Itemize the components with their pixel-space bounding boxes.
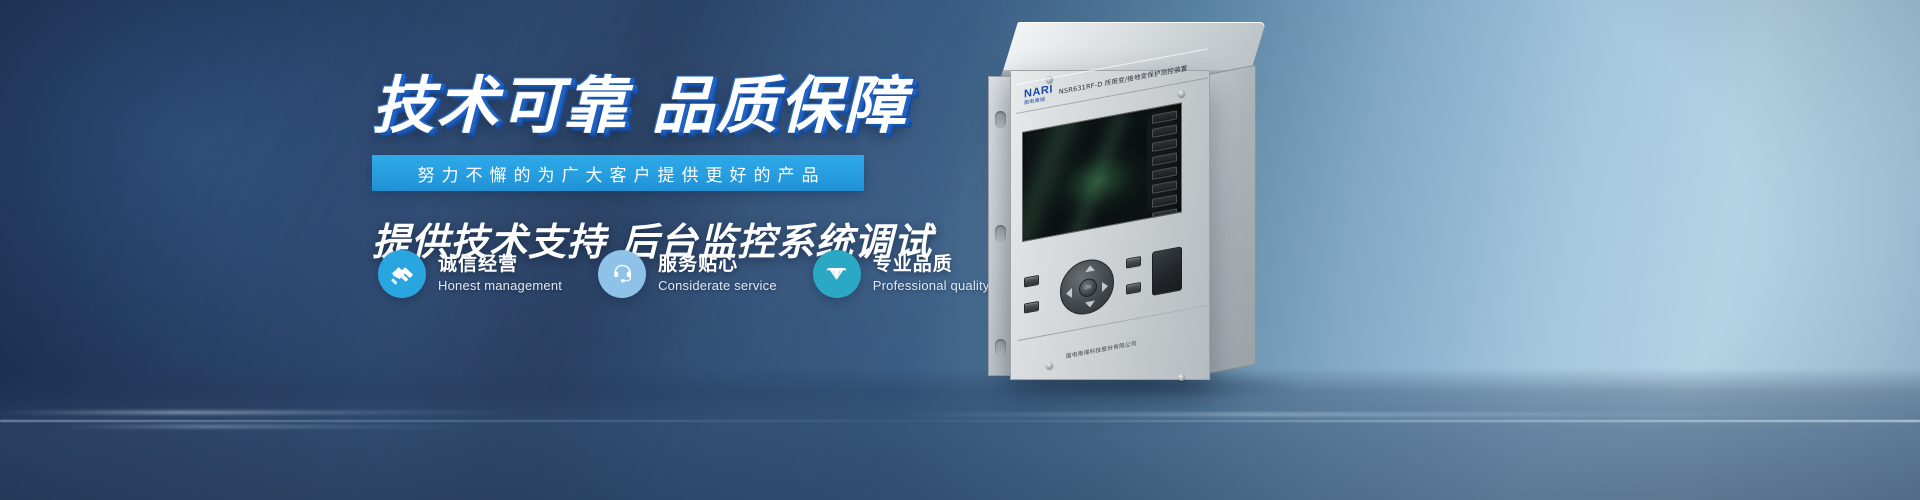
horizon-line	[0, 420, 1920, 422]
led-indicator	[1152, 180, 1177, 194]
nari-logo: NARI 南电南瑞	[1024, 84, 1053, 106]
function-button[interactable]	[1024, 275, 1039, 288]
feature-title: 服务贴心	[658, 254, 777, 276]
dpad-control[interactable]: OK	[1060, 255, 1114, 319]
function-button[interactable]	[1126, 256, 1141, 269]
copy-block: 技术可靠 品质保障 努力不懈的为广大客户提供更好的产品 提供技术支持 后台监控系…	[372, 74, 912, 266]
device-mounting-ear	[988, 76, 1012, 376]
mounting-hole	[995, 225, 1006, 242]
arrow-right-icon[interactable]	[1102, 281, 1108, 292]
card-slot	[1152, 246, 1182, 296]
led-indicator	[1152, 166, 1177, 180]
floor-band	[0, 368, 1920, 500]
light-streak	[60, 425, 480, 428]
product-device: NARI 南电南瑞 NSR631RF-D 所用变/接地变保护测控装置	[980, 22, 1270, 382]
light-streak	[900, 413, 1920, 416]
led-indicator-strip	[1152, 110, 1177, 222]
handshake-icon	[378, 250, 426, 298]
light-streak	[0, 411, 520, 414]
mounting-hole	[995, 339, 1006, 356]
arrow-left-icon[interactable]	[1066, 288, 1072, 299]
function-button[interactable]	[1024, 301, 1039, 314]
led-indicator	[1152, 124, 1177, 138]
ok-button[interactable]: OK	[1079, 277, 1097, 298]
promo-banner: 技术可靠 品质保障 努力不懈的为广大客户提供更好的产品 提供技术支持 后台监控系…	[0, 0, 1920, 500]
led-indicator	[1152, 110, 1177, 124]
headline-primary: 技术可靠 品质保障	[372, 74, 912, 137]
diamond-icon	[813, 250, 861, 298]
panel-screw	[1178, 90, 1185, 97]
subtitle-bar: 努力不懈的为广大客户提供更好的产品	[372, 155, 864, 191]
lcd-screen	[1025, 112, 1147, 239]
feature-item-honest-management[interactable]: 诚信经营 Honest management	[378, 250, 562, 298]
headset-icon	[598, 250, 646, 298]
device-side-panel	[1208, 65, 1256, 374]
subtitle-text: 努力不懈的为广大客户提供更好的产品	[411, 161, 826, 186]
led-indicator	[1152, 152, 1177, 166]
feature-subtitle: Considerate service	[658, 279, 777, 294]
function-button[interactable]	[1126, 282, 1141, 295]
feature-item-considerate-service[interactable]: 服务贴心 Considerate service	[598, 250, 777, 298]
feature-title: 诚信经营	[438, 254, 562, 276]
feature-subtitle: Honest management	[438, 279, 562, 294]
panel-screw	[1178, 374, 1185, 381]
arrow-down-icon[interactable]	[1085, 300, 1095, 308]
feature-list: 诚信经营 Honest management 服务贴心 Considerate …	[378, 250, 990, 298]
mounting-hole	[995, 111, 1006, 128]
led-indicator	[1152, 138, 1177, 152]
feature-subtitle: Professional quality	[873, 279, 990, 294]
led-indicator	[1152, 194, 1177, 208]
arrow-up-icon[interactable]	[1085, 264, 1095, 272]
panel-screw	[1046, 362, 1053, 369]
feature-title: 专业品质	[873, 254, 990, 276]
feature-item-professional-quality[interactable]: 专业品质 Professional quality	[813, 250, 990, 298]
